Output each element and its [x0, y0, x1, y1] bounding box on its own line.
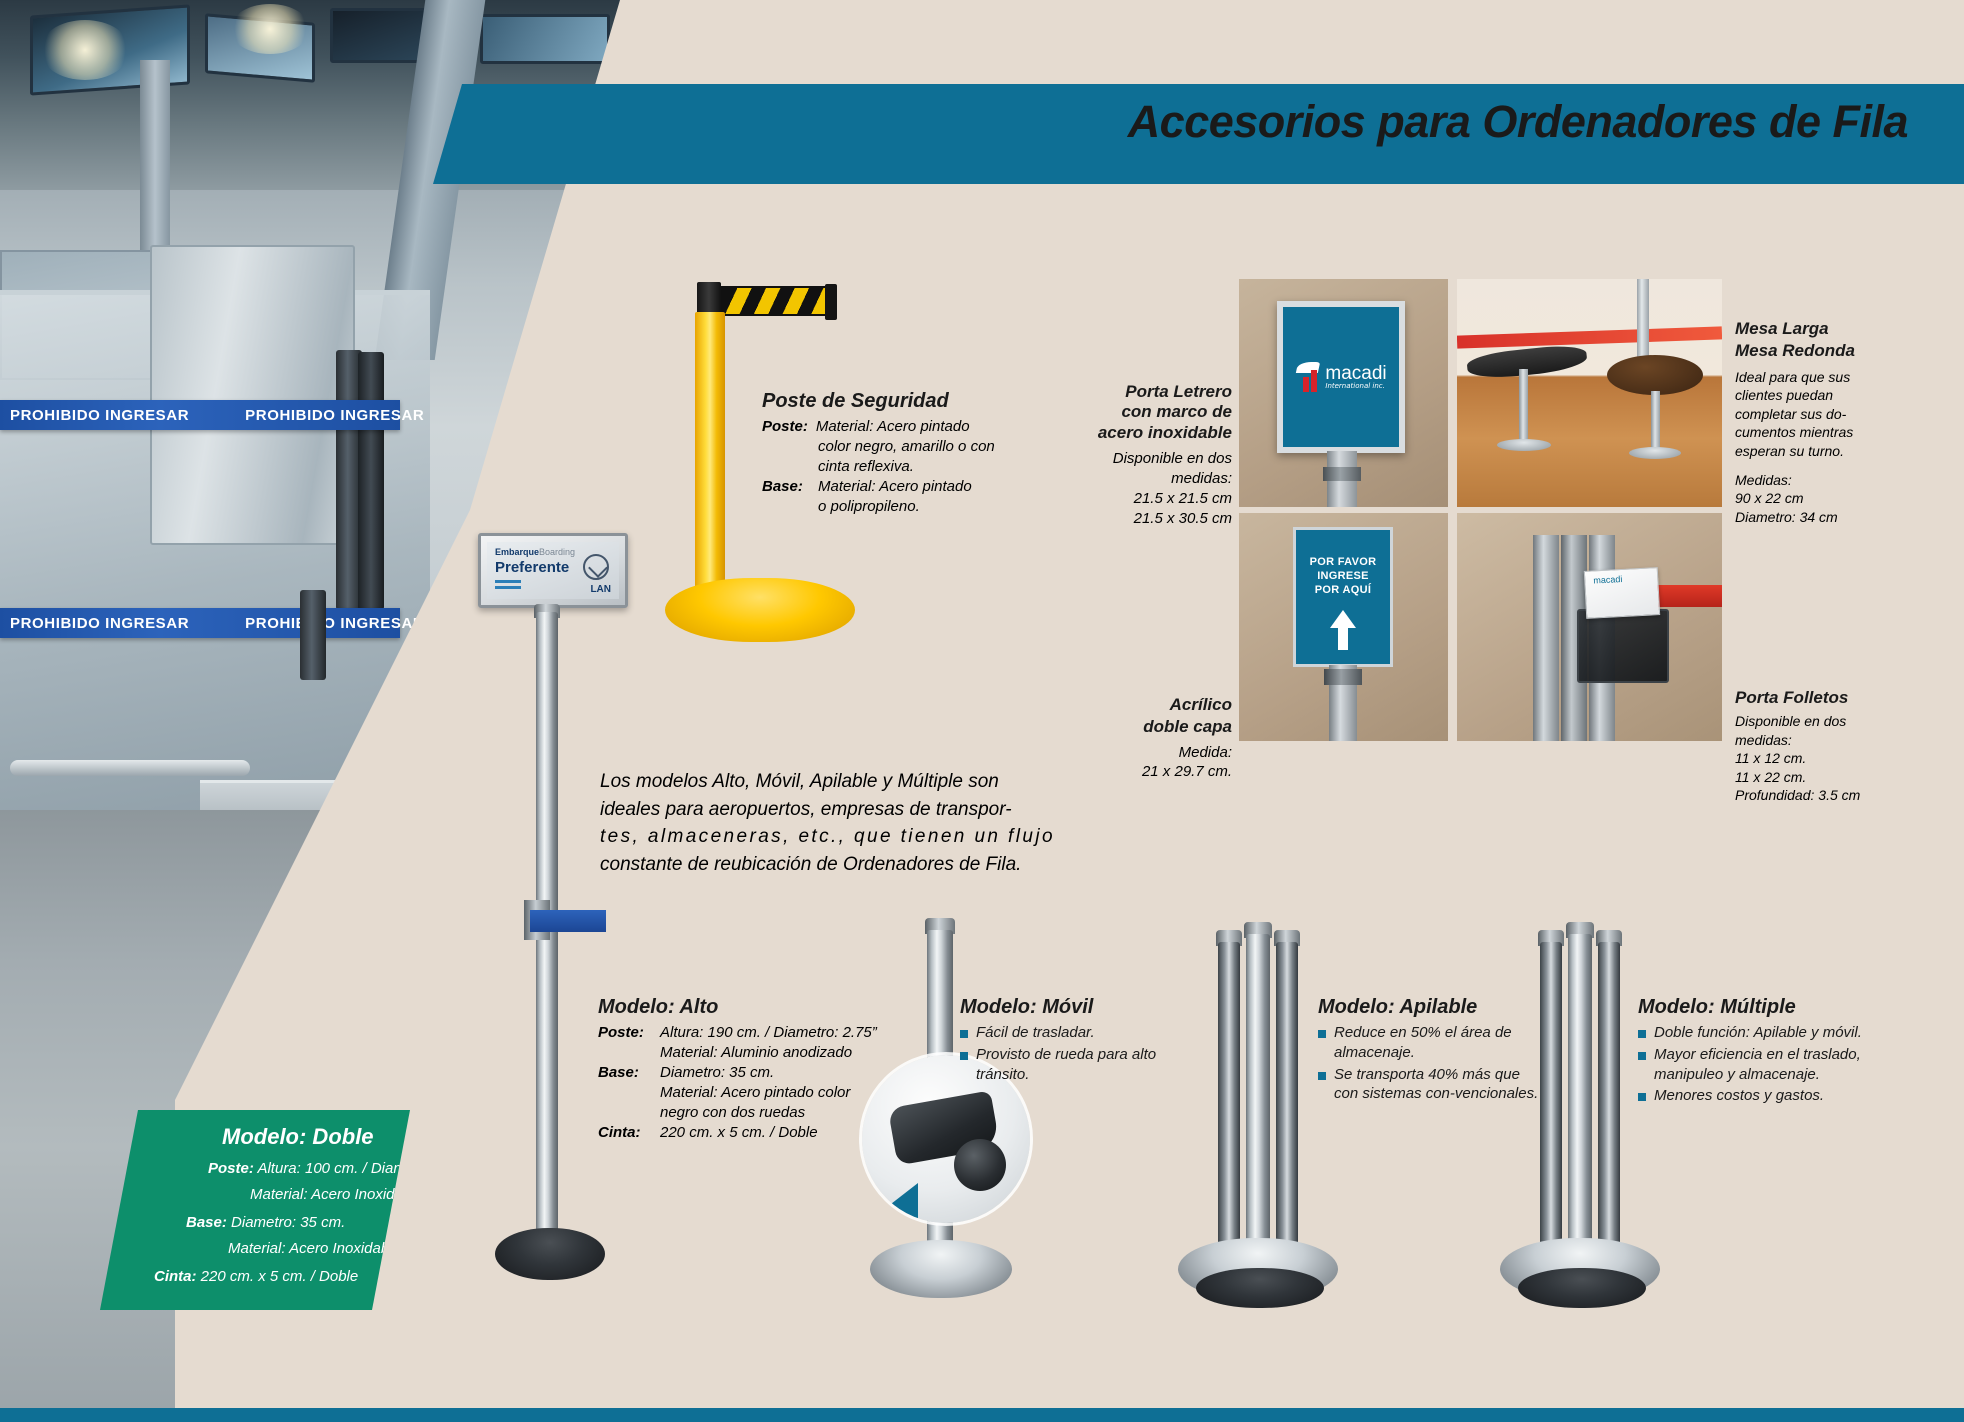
intro-paragraph: Los modelos Alto, Móvil, Apilable y Múlt…	[600, 768, 1090, 878]
acrilico-block: Acrílico doble capa Medida: 21 x 29.7 cm…	[1082, 694, 1232, 782]
spec-key: Cinta:	[598, 1123, 652, 1143]
sign-line-1: EmbarqueBoarding	[495, 547, 575, 557]
mesas-measure: Diametro: 34 cm	[1735, 508, 1935, 527]
post-tube	[1568, 934, 1592, 1260]
structural-pillar-2	[140, 60, 170, 260]
mesas-block: Mesa Larga Mesa Redonda Ideal para que s…	[1735, 318, 1935, 526]
arrow-icon	[583, 554, 609, 580]
metal-counter	[150, 245, 355, 545]
intro-line: ideales para aeropuertos, empresas de tr…	[600, 796, 1090, 824]
post-tube	[1540, 942, 1562, 1260]
modelo-apilable-title: Modelo: Apilable	[1318, 996, 1548, 1019]
modelo-alto-title: Modelo: Alto	[598, 996, 928, 1019]
post-tube	[1598, 942, 1620, 1260]
spec-value: cinta reflexiva.	[818, 457, 1062, 477]
mesas-measure: 90 x 22 cm	[1735, 489, 1935, 508]
modelo-doble-card: Modelo: Doble Poste: Altura: 100 cm. / D…	[100, 1110, 410, 1310]
sign-line-1-bold: Embarque	[495, 547, 539, 557]
modelo-multiple-features: Doble función: Apilable y móvil. Mayor e…	[1638, 1023, 1878, 1106]
acrilico-title: Acrílico	[1082, 694, 1232, 715]
spec-value: Altura: 190 cm. / Diametro: 2.75”	[660, 1023, 877, 1043]
spec-value: 220 cm. x 5 cm. / Doble	[660, 1123, 818, 1143]
modelo-movil-features: Fácil de trasladar. Provisto de rueda pa…	[960, 1023, 1190, 1084]
feature-item: Provisto de rueda para alto tránsito.	[960, 1045, 1190, 1085]
porta-folletos-detail: Disponible en dos	[1735, 712, 1945, 731]
barrier-belt-lower: PROHIBIDO INGRESAR PROHIBIDO INGRESAR	[0, 608, 400, 638]
post-tube	[1276, 942, 1298, 1260]
post-base	[665, 578, 855, 642]
footer-strip	[0, 1408, 1964, 1422]
barrier-belt-text: PROHIBIDO INGRESAR	[10, 615, 189, 632]
mesas-title: Mesa Larga	[1735, 318, 1935, 339]
spec-key: Poste:	[598, 1023, 652, 1043]
porta-letrero-detail: Disponible en dos	[1082, 449, 1232, 469]
spec-key: Poste:	[762, 417, 808, 437]
callout-accent	[862, 1183, 918, 1223]
table-leg	[1651, 391, 1660, 453]
brochure-holder	[1577, 609, 1669, 683]
spec-row: Base:Material: Acero pintado	[762, 477, 1062, 497]
feature-item: Doble función: Apilable y móvil.	[1638, 1023, 1878, 1043]
table-base	[1629, 447, 1681, 459]
porta-folletos-photo: macadi	[1457, 513, 1722, 741]
spec-key: Base:	[186, 1214, 227, 1231]
spec-key: Cinta:	[154, 1268, 197, 1285]
porta-letrero-title: Porta Letrero	[1082, 382, 1232, 402]
modelo-multiple-block: Modelo: Múltiple Doble función: Apilable…	[1638, 996, 1878, 1108]
blue-belt	[530, 910, 606, 932]
porta-letrero-detail: 21.5 x 21.5 cm	[1082, 489, 1232, 509]
spec-key: Poste:	[208, 1160, 254, 1177]
porta-letrero-photo: macadi International inc.	[1239, 279, 1448, 507]
intro-line: tes, almaceneras, etc., que tienen un fl…	[600, 823, 1090, 851]
feature-item: Reduce en 50% el área de almacenaje.	[1318, 1023, 1548, 1063]
porta-folletos-detail: 11 x 12 cm.	[1735, 749, 1945, 768]
spec-key: Base:	[762, 477, 810, 497]
handrail	[10, 760, 250, 776]
acrylic-sign-line: POR FAVOR	[1310, 556, 1377, 568]
feature-item: Fácil de trasladar.	[960, 1023, 1190, 1043]
spec-value: Diametro: 35 cm.	[231, 1214, 345, 1231]
ceiling-light-2	[230, 4, 310, 54]
modelo-apilable-features: Reduce en 50% el área de almacenaje. Se …	[1318, 1023, 1548, 1104]
post-base-wheels	[1518, 1268, 1646, 1308]
porta-folletos-detail: medidas:	[1735, 731, 1945, 750]
spec-value: Material: Acero pintado	[818, 477, 972, 497]
ceiling-display-4	[480, 14, 610, 64]
table-base	[1497, 439, 1551, 451]
porta-folletos-block: Porta Folletos Disponible en dos medidas…	[1735, 688, 1945, 805]
post-base	[495, 1228, 605, 1280]
belt-housing	[1324, 669, 1362, 685]
spec-value: o polipropileno.	[818, 497, 1062, 517]
wheel-icon	[954, 1139, 1006, 1191]
spec-value: Material: Aluminio anodizado	[660, 1043, 928, 1063]
ceiling-light-1	[40, 20, 130, 80]
spec-key: Base:	[598, 1063, 652, 1083]
stanchion-post	[1637, 279, 1649, 359]
porta-folletos-detail: Profundidad: 3.5 cm	[1735, 786, 1945, 805]
poste-seguridad-title: Poste de Seguridad	[762, 390, 1062, 413]
feature-item: Mayor eficiencia en el traslado, manipul…	[1638, 1045, 1878, 1085]
sign-line-1-light: Boarding	[539, 547, 575, 557]
barrier-belt-text: PROHIBIDO INGRESAR	[245, 615, 424, 632]
porta-folletos-detail: 11 x 22 cm.	[1735, 768, 1945, 787]
stanchion-post	[1533, 535, 1559, 741]
spec-row: Poste:Material: Acero pintado	[762, 417, 1062, 437]
queue-post-3	[300, 590, 326, 680]
mesas-desc: clientes puedan	[1735, 386, 1935, 405]
macadi-subtext: International inc.	[1325, 383, 1386, 390]
intro-line: constante de reubicación de Ordenadores …	[600, 851, 1090, 879]
macadi-mark-icon	[1295, 362, 1321, 392]
porta-letrero-detail: medidas:	[1082, 469, 1232, 489]
spec-value: Material: Acero pintado	[816, 417, 970, 437]
macadi-wordmark: macadi	[1325, 364, 1386, 383]
modelo-multiple-title: Modelo: Múltiple	[1638, 996, 1878, 1019]
airline-logo: LAN	[590, 584, 611, 595]
acrylic-sign: POR FAVOR INGRESE POR AQUÍ	[1293, 527, 1393, 667]
sign-frame: macadi International inc.	[1277, 301, 1405, 453]
modelo-movil-title: Modelo: Móvil	[960, 996, 1190, 1019]
mesas-desc: Ideal para que sus	[1735, 368, 1935, 387]
post-base	[870, 1240, 1012, 1298]
queue-post-2	[358, 352, 384, 610]
acrilico-detail: 21 x 29.7 cm.	[1082, 762, 1232, 782]
belt-end-clip	[825, 284, 837, 320]
barrier-belt-upper: PROHIBIDO INGRESAR PROHIBIDO INGRESAR	[0, 400, 400, 430]
round-table-top	[1607, 355, 1703, 395]
hazard-belt	[721, 286, 831, 316]
acrilico-title: doble capa	[1082, 716, 1232, 737]
spec-value: Material: Acero Inoxidable	[228, 1240, 401, 1257]
mesas-title: Mesa Redonda	[1735, 340, 1935, 361]
post-base-wheels	[1196, 1268, 1324, 1308]
mesas-desc: cumentos mientras	[1735, 423, 1935, 442]
post-tube	[1218, 942, 1240, 1260]
modelo-doble-title: Modelo: Doble	[222, 1124, 374, 1150]
page-title: Accesorios para Ordenadores de Fila	[1128, 96, 1908, 148]
poste-seguridad-block: Poste de Seguridad Poste:Material: Acero…	[762, 390, 1062, 517]
sign-line-2: Preferente	[495, 559, 569, 576]
mesas-desc: esperan su turno.	[1735, 442, 1935, 461]
barrier-belt-text: PROHIBIDO INGRESAR	[10, 407, 189, 424]
table-leg	[1519, 369, 1528, 443]
porta-letrero-title: acero inoxidable	[1082, 423, 1232, 443]
mesas-photo	[1457, 279, 1722, 507]
acrylic-sign-line: INGRESE	[1317, 570, 1369, 582]
sign-bars	[495, 580, 521, 589]
spec-row: Base:Diametro: 35 cm.	[598, 1063, 928, 1083]
feature-item: Se transporta 40% más que con sistemas c…	[1318, 1065, 1548, 1105]
post-tube	[1246, 934, 1270, 1260]
porta-letrero-block: Porta Letrero con marco de acero inoxida…	[1082, 382, 1232, 529]
sign-face: EmbarqueBoarding Preferente LAN	[487, 542, 619, 599]
acrilico-detail: Medida:	[1082, 743, 1232, 763]
up-arrow-icon	[1330, 610, 1356, 628]
mesas-measure: Medidas:	[1735, 471, 1935, 490]
macadi-logo: macadi International inc.	[1295, 362, 1386, 392]
acrilico-photo: POR FAVOR INGRESE POR AQUÍ	[1239, 513, 1448, 741]
porta-letrero-detail: 21.5 x 30.5 cm	[1082, 509, 1232, 529]
feature-item: Menores costos y gastos.	[1638, 1086, 1878, 1106]
brochure-brand: macadi	[1585, 568, 1658, 586]
mesas-desc: completar sus do-	[1735, 405, 1935, 424]
belt-housing	[1323, 467, 1361, 481]
modelo-movil-block: Modelo: Móvil Fácil de trasladar. Provis…	[960, 996, 1190, 1086]
wall-stripe	[1457, 326, 1722, 348]
spec-row: Poste:Altura: 190 cm. / Diametro: 2.75”	[598, 1023, 928, 1043]
post-tube	[695, 312, 725, 590]
barrier-belt-text: PROHIBIDO INGRESAR	[245, 407, 424, 424]
boarding-sign: EmbarqueBoarding Preferente LAN	[478, 533, 628, 608]
spec-value: Diametro: 35 cm.	[660, 1063, 774, 1083]
modelo-apilable-block: Modelo: Apilable Reduce en 50% el área d…	[1318, 996, 1548, 1106]
brochure-card: macadi	[1584, 567, 1660, 619]
spec-value: 220 cm. x 5 cm. / Doble	[201, 1268, 359, 1285]
acrylic-sign-line: POR AQUÍ	[1315, 584, 1371, 596]
porta-folletos-title: Porta Folletos	[1735, 688, 1945, 708]
intro-line: Los modelos Alto, Móvil, Apilable y Múlt…	[600, 768, 1090, 796]
porta-letrero-title: con marco de	[1082, 402, 1232, 422]
spec-value: color negro, amarillo o con	[818, 437, 1062, 457]
